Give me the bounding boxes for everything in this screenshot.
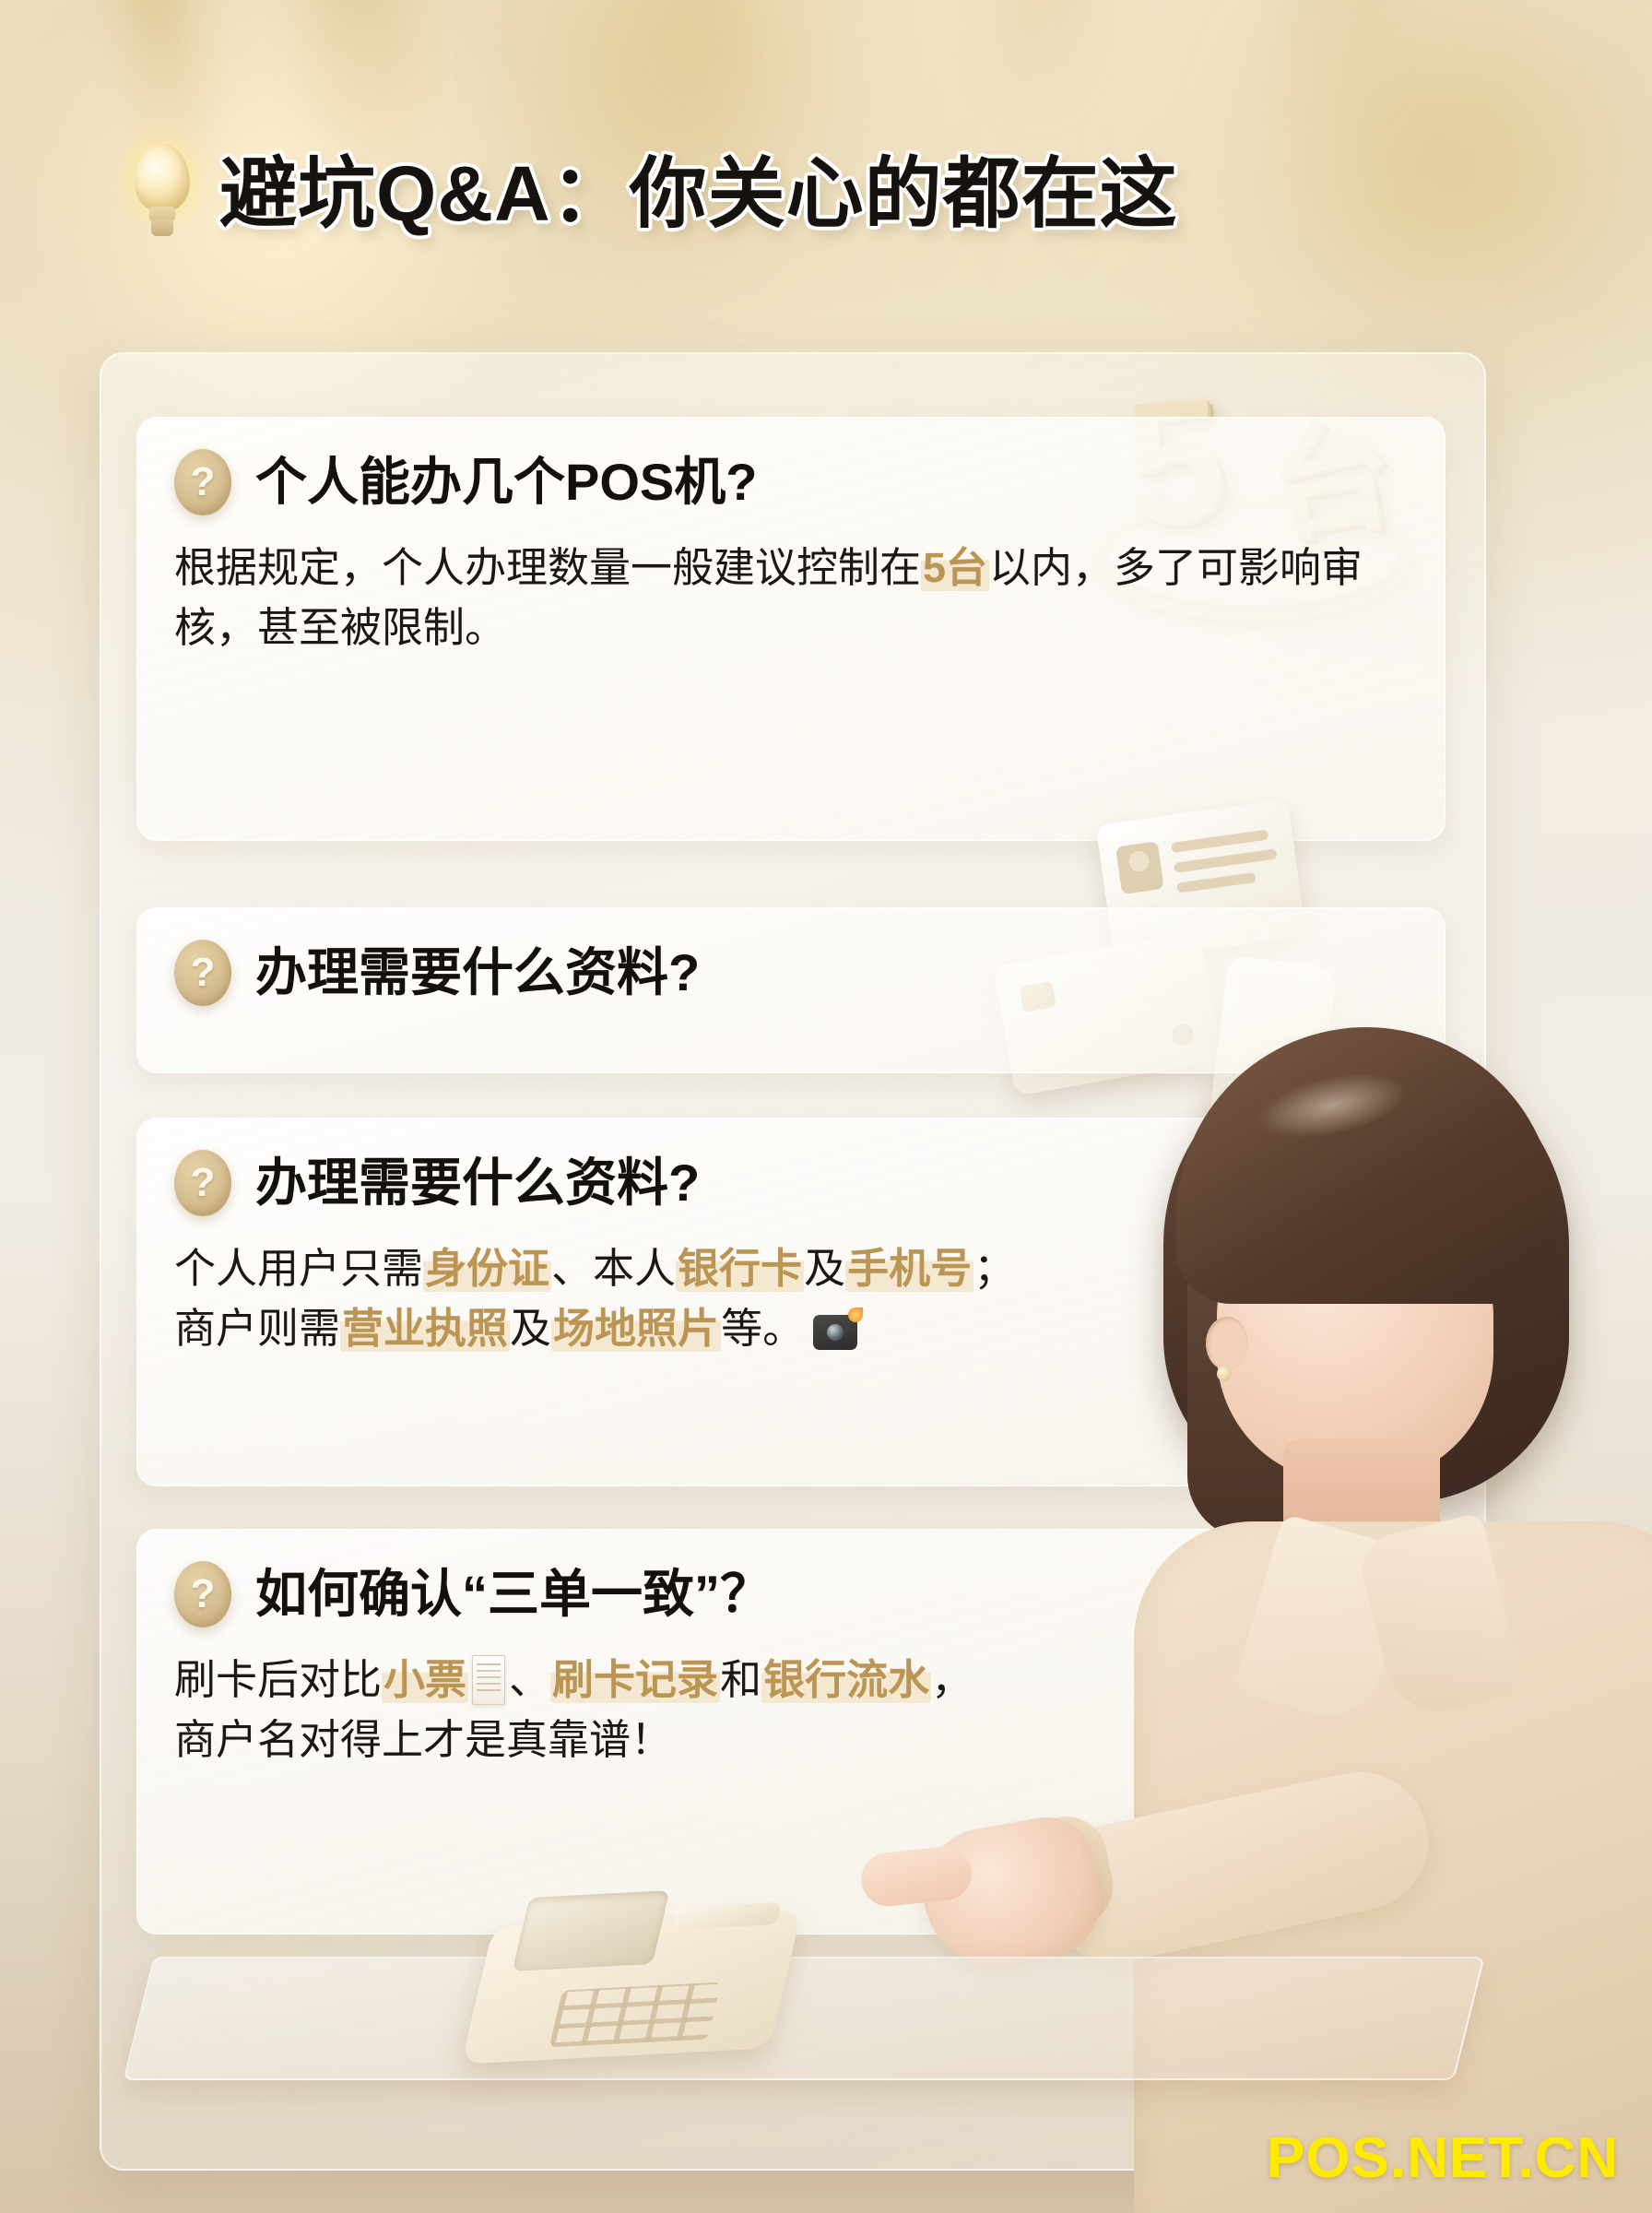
answer-highlight: 刷卡记录 — [550, 1656, 720, 1703]
faq-card-1[interactable]: ? 个人能办几个POS机? 根据规定，个人办理数量一般建议控制在5台以内，多了可… — [136, 417, 1445, 841]
answer-highlight: 银行流水 — [761, 1656, 931, 1703]
question-text-4: 如何确认“三单一致”？ — [255, 1566, 772, 1623]
question-mark-icon: ? — [174, 1561, 231, 1627]
answer-highlight: 营业执照 — [340, 1305, 510, 1352]
question-row: ? 个人能办几个POS机? — [174, 449, 1408, 515]
answer-segment: 等。 — [721, 1305, 804, 1352]
answer-segment: 及 — [510, 1305, 551, 1352]
receipt-icon — [472, 1655, 505, 1705]
answer-segment: 商户则需 — [174, 1305, 340, 1352]
page-header: 避坑Q&A：你关心的都在这 — [0, 138, 1652, 249]
answer-segment: 及 — [804, 1245, 845, 1292]
question-mark-icon: ? — [174, 449, 231, 515]
answer-segment: 、本人 — [551, 1245, 676, 1292]
answer-segment: 刷卡后对比 — [174, 1656, 382, 1703]
answer-highlight: 小票 — [382, 1656, 468, 1703]
answer-highlight: 身份证 — [423, 1245, 551, 1292]
answer-segment: 和 — [720, 1656, 761, 1703]
lightbulb-icon — [129, 144, 195, 240]
answer-text-4: 刷卡后对比小票、刷卡记录和银行流水，商户名对得上才是真靠谱！ — [174, 1650, 1408, 1770]
question-text-3: 办理需要什么资料? — [255, 1154, 700, 1212]
answer-segment: 个人用户只需 — [174, 1245, 423, 1292]
question-row: ? 如何确认“三单一致”？ — [174, 1561, 1408, 1627]
question-mark-icon: ? — [174, 1150, 231, 1216]
answer-segment: 、 — [509, 1656, 550, 1703]
question-text-1: 个人能办几个POS机? — [255, 454, 757, 511]
faq-card-3[interactable]: ? 办理需要什么资料? 个人用户只需身份证、本人银行卡及手机号；商户则需营业执照… — [136, 1118, 1445, 1486]
answer-highlight: 场地照片 — [551, 1305, 721, 1352]
answer-segment: 商户名对得上才是真靠谱！ — [174, 1716, 672, 1763]
page-title: 避坑Q&A：你关心的都在这 — [219, 155, 1178, 232]
question-row: ? 办理需要什么资料? — [174, 1150, 1408, 1216]
answer-highlight: 手机号 — [845, 1245, 973, 1292]
question-text-2: 办理需要什么资料? — [255, 944, 700, 1001]
question-mark-icon: ? — [174, 940, 231, 1006]
question-row: ? 办理需要什么资料? — [174, 940, 1408, 1006]
faq-card-2[interactable]: ? 办理需要什么资料? — [136, 907, 1445, 1073]
camera-icon — [813, 1315, 857, 1350]
answer-text-1: 根据规定，个人办理数量一般建议控制在5台以内，多了可影响审核，甚至被限制。 — [174, 538, 1408, 658]
answer-segment: ， — [931, 1656, 973, 1703]
pos-terminal-icon — [479, 1861, 903, 2073]
poster-canvas: 避坑Q&A：你关心的都在这 5 台 ? 个人能办几个POS机? 根据规定，个人办… — [0, 0, 1652, 2213]
answer-text-3: 个人用户只需身份证、本人银行卡及手机号；商户则需营业执照及场地照片等。 — [174, 1238, 1408, 1359]
answer-highlight: 5台 — [921, 544, 989, 591]
answer-segment: 根据规定，个人办理数量一般建议控制在 — [174, 544, 921, 591]
watermark: POS.NET.CN — [1267, 2125, 1619, 2191]
answer-highlight: 银行卡 — [676, 1245, 804, 1292]
answer-segment: ； — [973, 1245, 1015, 1292]
